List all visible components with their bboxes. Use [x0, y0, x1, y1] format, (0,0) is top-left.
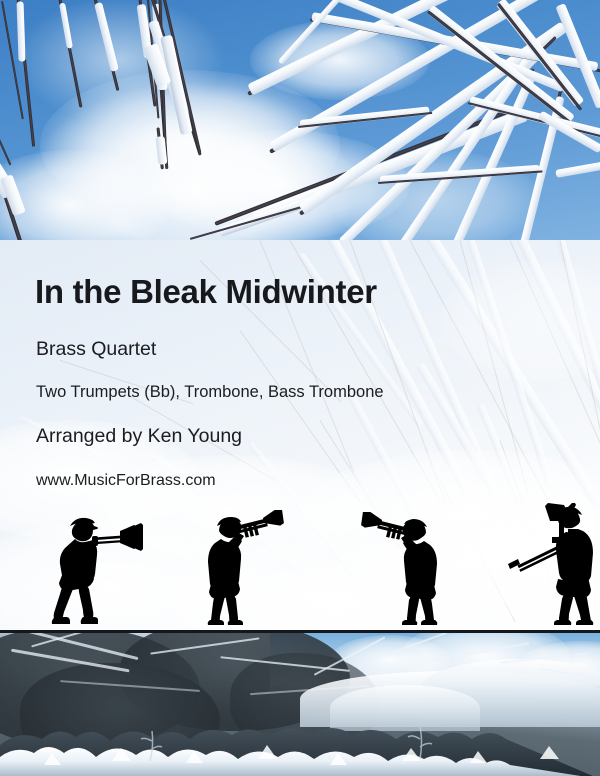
ensemble-label: Brass Quartet — [36, 338, 156, 361]
snowy-conifer-row — [0, 699, 600, 776]
instrumentation-label: Two Trumpets (Bb), Trombone, Bass Trombo… — [36, 383, 384, 402]
page-title: In the Bleak Midwinter — [35, 273, 377, 311]
arranger-credit: Arranged by Ken Young — [36, 425, 242, 448]
publisher-website: www.MusicForBrass.com — [36, 472, 216, 490]
top-photo-snowy-branches — [0, 0, 600, 243]
bottom-photo-snowy-evergreens — [0, 630, 600, 776]
sheet-music-cover-page: In the Bleak Midwinter Brass Quartet Two… — [0, 0, 600, 776]
title-panel: In the Bleak Midwinter Brass Quartet Two… — [0, 240, 600, 630]
